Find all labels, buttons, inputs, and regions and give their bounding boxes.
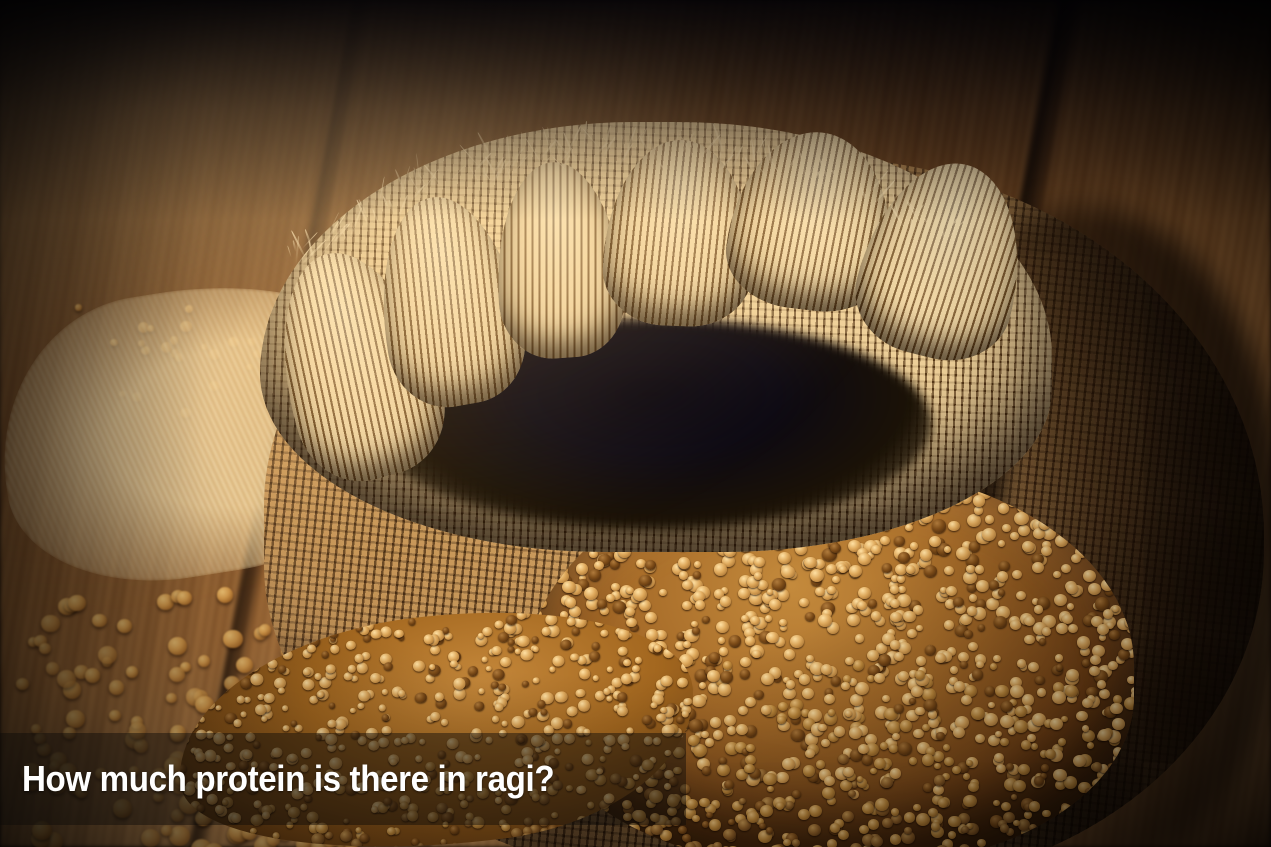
grain-seed: [878, 654, 891, 666]
grain-seed: [539, 573, 546, 579]
grain-seed: [578, 668, 591, 680]
grain-seed: [1029, 801, 1041, 812]
grain-seed: [1031, 743, 1038, 750]
grain-seed: [1108, 661, 1118, 670]
grain-seed: [943, 744, 950, 751]
grain-seed: [810, 569, 824, 582]
grain-seed: [1039, 638, 1046, 645]
grain-seed: [953, 727, 965, 738]
grain-seed: [654, 606, 666, 618]
grain-seed: [1095, 842, 1107, 847]
grain-seed: [767, 786, 774, 792]
sack-rim: [260, 122, 1052, 552]
grain-seed: [889, 744, 898, 753]
grain-seed: [815, 587, 825, 596]
grain-seed: [724, 715, 736, 726]
grain-seed: [164, 648, 171, 656]
grain-seed: [778, 552, 791, 565]
grain-seed: [631, 664, 640, 673]
grain-seed: [682, 580, 693, 590]
grain-seed: [532, 646, 539, 653]
grain-seed: [327, 719, 336, 728]
grain-seed: [1112, 505, 1126, 518]
grain-seed: [494, 620, 504, 629]
grain-seed: [381, 688, 388, 695]
grain-seed: [799, 598, 809, 607]
grain-seed: [1067, 466, 1077, 472]
grain-seed: [648, 592, 656, 599]
grain-seed: [511, 715, 525, 728]
grain-seed: [855, 682, 869, 695]
grain-seed: [575, 688, 585, 698]
grain-seed: [363, 635, 372, 643]
grain-seed: [736, 724, 748, 735]
grain-seed: [1056, 466, 1064, 472]
grain-seed: [805, 612, 815, 621]
grain-seed: [894, 652, 904, 661]
grain-seed: [1101, 579, 1114, 591]
loose-grain: [68, 595, 86, 612]
grain-seed: [478, 687, 485, 694]
grain-seed: [847, 614, 860, 626]
grain-seed: [802, 688, 814, 699]
grain-seed: [783, 839, 791, 846]
grain-seed: [996, 764, 1007, 774]
grain-seed: [798, 809, 810, 820]
grain-seed: [898, 742, 912, 755]
grain-seed: [954, 681, 965, 692]
grain-seed: [978, 624, 985, 631]
grain-seed: [849, 727, 862, 739]
grain-seed: [1000, 824, 1009, 833]
grain-seed: [1111, 820, 1122, 831]
grain-seed: [934, 763, 941, 770]
grain-seed: [839, 566, 847, 573]
grain-seed: [178, 706, 189, 717]
grain-seed: [760, 805, 773, 817]
grain-seed: [897, 575, 905, 583]
jute-fiber: [990, 239, 992, 255]
grain-seed: [904, 827, 912, 834]
grain-seed: [1092, 807, 1105, 819]
grain-seed: [692, 815, 700, 822]
grain-seed: [990, 663, 997, 670]
grain-seed: [1097, 547, 1111, 560]
grain-seed: [890, 834, 902, 845]
grain-seed: [713, 842, 722, 847]
grain-seed: [415, 692, 427, 704]
grain-seed: [1035, 676, 1044, 685]
grain-seed: [302, 679, 315, 691]
grain-seed: [1133, 765, 1134, 772]
grain-seed: [371, 629, 382, 640]
grain-seed: [617, 628, 631, 641]
grain-seed: [784, 649, 795, 659]
grain-seed: [617, 646, 628, 656]
grain-seed: [520, 649, 534, 662]
grain-seed: [922, 724, 931, 732]
grain-seed: [960, 614, 972, 625]
grain-seed: [963, 571, 977, 584]
grain-seed: [871, 836, 883, 847]
grain-seed: [714, 563, 728, 576]
grain-seed: [911, 686, 923, 697]
grain-seed: [1047, 821, 1055, 828]
grain-seed: [903, 611, 916, 623]
grain-seed: [871, 611, 881, 621]
grain-seed: [745, 697, 756, 707]
grain-seed: [236, 695, 246, 704]
grain-seed: [855, 634, 865, 643]
grain-seed: [429, 645, 441, 656]
grain-seed: [968, 642, 979, 652]
grain-seed: [329, 644, 339, 654]
grain-seed: [824, 776, 835, 786]
grain-seed: [858, 553, 871, 565]
grain-seed: [1056, 623, 1068, 634]
grain-seed: [913, 804, 920, 811]
grain-seed: [841, 682, 850, 690]
grain-seed: [928, 808, 938, 817]
loose-grain: [141, 829, 161, 847]
grain-seed: [1121, 638, 1134, 650]
grain-seed: [1042, 627, 1051, 636]
grain-seed: [516, 635, 529, 648]
grain-seed: [636, 840, 646, 847]
grain-seed: [232, 829, 240, 836]
grain-seed: [693, 571, 701, 578]
grain-seed: [1115, 588, 1123, 595]
grain-seed: [778, 702, 788, 711]
grain-seed: [230, 639, 237, 646]
grain-seed: [944, 757, 954, 766]
grain-seed: [977, 839, 986, 847]
grain-seed: [882, 695, 890, 702]
grain-seed: [508, 646, 515, 653]
grain-seed: [746, 744, 755, 752]
grain-seed: [683, 697, 692, 706]
grain-seed: [740, 657, 751, 667]
grain-seed: [241, 837, 249, 845]
grain-seed: [916, 625, 923, 632]
grain-seed: [1092, 762, 1102, 771]
grain-seed: [592, 675, 599, 682]
grain-seed: [663, 648, 675, 659]
grain-seed: [516, 610, 527, 620]
loose-grain: [85, 668, 101, 683]
grain-seed: [935, 653, 946, 663]
grain-seed: [754, 557, 765, 567]
grain-seed: [530, 841, 541, 847]
grain-seed: [717, 764, 731, 777]
grain-seed: [560, 638, 572, 649]
grain-seed: [1068, 624, 1078, 633]
grain-seed: [383, 661, 393, 671]
grain-seed: [916, 813, 930, 826]
grain-seed: [752, 650, 761, 658]
grain-seed: [898, 552, 910, 563]
grain-seed: [1041, 764, 1050, 772]
jute-fiber: [287, 245, 292, 258]
grain-seed: [1010, 685, 1024, 698]
grain-seed: [467, 665, 479, 676]
grain-seed: [1028, 662, 1039, 672]
grain-seed: [765, 615, 773, 622]
grain-seed: [913, 729, 923, 739]
grain-seed: [713, 730, 724, 740]
grain-seed: [215, 705, 222, 712]
grain-seed: [629, 598, 642, 611]
grain-seed: [761, 673, 774, 685]
grain-seed: [985, 686, 995, 696]
grain-seed: [1024, 635, 1035, 645]
grain-seed: [763, 773, 776, 785]
grain-seed: [822, 787, 835, 799]
grain-seed: [754, 572, 762, 580]
grain-seed: [1034, 605, 1043, 614]
grain-seed: [976, 661, 984, 669]
grain-seed: [501, 721, 508, 728]
grain-seed: [1014, 720, 1028, 733]
grain-seed: [936, 732, 945, 741]
grain-seed: [946, 586, 957, 596]
grain-seed: [1029, 824, 1037, 831]
grain-seed: [824, 694, 835, 705]
grain-seed: [1076, 711, 1087, 721]
grain-seed: [966, 565, 975, 573]
grain-seed: [790, 635, 804, 648]
grain-seed: [492, 668, 505, 681]
grain-seed: [328, 702, 336, 709]
grain-seed: [358, 690, 371, 702]
grain-seed: [1130, 741, 1134, 750]
grain-seed: [1061, 564, 1071, 574]
grain-seed: [1024, 616, 1035, 626]
grain-seed: [821, 739, 830, 747]
grain-seed: [922, 754, 935, 766]
grain-seed: [1055, 535, 1068, 547]
grain-seed: [816, 760, 825, 769]
grain-seed: [907, 629, 917, 638]
grain-seed: [1081, 479, 1091, 488]
grain-seed: [685, 842, 696, 847]
grain-seed: [1097, 502, 1110, 514]
grain-seed: [595, 618, 604, 627]
grain-seed: [682, 601, 692, 610]
grain-seed: [994, 616, 1007, 628]
grain-seed: [739, 798, 746, 805]
grain-seed: [894, 704, 904, 713]
loose-grain: [109, 710, 121, 722]
grain-seed: [1096, 790, 1104, 797]
grain-seed: [900, 720, 912, 732]
grain-seed: [738, 706, 749, 716]
grain-seed: [909, 757, 917, 765]
grain-seed: [808, 824, 821, 836]
grain-seed: [806, 655, 814, 662]
grain-seed: [1127, 481, 1134, 493]
grain-seed: [278, 687, 286, 694]
grain-seed: [953, 597, 964, 607]
grain-seed: [853, 660, 865, 671]
grain-seed: [1013, 820, 1020, 827]
grain-seed: [606, 666, 613, 673]
grain-seed: [521, 680, 529, 687]
grain-seed: [603, 688, 611, 696]
grain-seed: [250, 673, 264, 686]
grain-seed: [356, 662, 368, 674]
grain-seed: [380, 626, 393, 638]
grain-seed: [1107, 538, 1117, 547]
grain-seed: [1082, 659, 1090, 666]
grain-seed: [1015, 706, 1026, 717]
grain-seed: [705, 738, 714, 747]
grain-seed: [890, 599, 900, 609]
grain-seed: [766, 827, 773, 834]
grain-seed: [1124, 593, 1134, 605]
grain-seed: [821, 664, 832, 675]
image-stage: How much protein is there in ragi?: [0, 0, 1271, 847]
grain-seed: [716, 621, 729, 633]
grain-seed: [975, 565, 984, 574]
grain-seed: [859, 825, 869, 834]
grain-seed: [845, 710, 853, 717]
grain-seed: [759, 823, 766, 830]
grain-seed: [924, 565, 937, 577]
grain-seed: [785, 801, 794, 809]
grain-seed: [1091, 829, 1105, 842]
grain-seed: [727, 726, 736, 735]
grain-seed: [1109, 630, 1120, 640]
grain-seed: [508, 638, 515, 645]
grain-seed: [345, 640, 357, 651]
grain-seed: [267, 659, 278, 669]
grain-seed: [989, 580, 999, 590]
grain-seed: [1010, 620, 1021, 630]
grain-seed: [1011, 794, 1018, 800]
grain-seed: [783, 688, 795, 700]
grain-seed: [938, 798, 949, 808]
grain-seed: [720, 596, 731, 606]
grain-seed: [1120, 790, 1133, 802]
grain-seed: [1021, 740, 1032, 750]
loose-grain: [126, 666, 139, 678]
grain-seed: [589, 569, 602, 581]
grain-seed: [1016, 591, 1026, 600]
grain-seed: [1107, 763, 1117, 773]
grain-seed: [1097, 537, 1107, 547]
grain-seed: [968, 782, 979, 792]
grain-seed: [660, 674, 673, 686]
grain-seed: [1064, 840, 1078, 847]
grain-seed: [694, 561, 701, 568]
grain-seed: [1125, 617, 1134, 628]
loose-grain: [161, 825, 173, 836]
grain-seed: [617, 705, 629, 716]
grain-seed: [988, 702, 995, 709]
loose-grain: [75, 304, 82, 310]
grain-seed: [944, 566, 954, 575]
grain-seed: [629, 614, 638, 622]
grain-seed: [960, 661, 968, 668]
grain-seed: [870, 768, 877, 774]
grain-seed: [1052, 691, 1066, 704]
grain-seed: [1090, 655, 1101, 666]
grain-seed: [1037, 688, 1046, 696]
grain-seed: [1065, 685, 1078, 697]
grain-seed: [718, 637, 725, 644]
grain-seed: [227, 667, 234, 674]
grain-seed: [868, 599, 877, 608]
grain-seed: [966, 760, 973, 767]
grain-seed: [792, 790, 801, 798]
grain-seed: [834, 726, 845, 737]
loose-grain: [109, 680, 125, 695]
grain-seed: [1127, 676, 1134, 684]
loose-grain: [39, 643, 51, 655]
grain-seed: [838, 830, 849, 840]
grain-seed: [904, 812, 916, 823]
grain-seed: [1110, 703, 1123, 715]
grain-seed: [600, 629, 609, 637]
grain-seed: [972, 669, 984, 680]
grain-seed: [719, 647, 728, 656]
grain-seed: [549, 666, 556, 673]
grain-seed: [1124, 827, 1134, 836]
grain-seed: [898, 586, 906, 593]
grain-seed: [233, 719, 242, 727]
grain-seed: [591, 642, 600, 650]
grain-seed: [967, 606, 978, 616]
loose-grain: [16, 678, 29, 690]
grain-seed: [577, 699, 591, 712]
grain-seed: [1058, 738, 1067, 746]
grain-seed: [1123, 469, 1133, 478]
loose-grain: [92, 614, 107, 628]
grain-seed: [527, 556, 539, 567]
grain-seed: [818, 724, 826, 732]
grain-seed: [606, 695, 613, 702]
grain-seed: [1001, 802, 1011, 811]
grain-seed: [264, 646, 273, 655]
grain-seed: [440, 839, 447, 845]
grain-seed: [745, 636, 755, 645]
grain-seed: [890, 585, 899, 593]
grain-seed: [676, 677, 688, 689]
grain-seed: [868, 819, 880, 830]
grain-seed: [948, 831, 956, 839]
grain-seed: [995, 731, 1002, 737]
grain-seed: [1013, 780, 1026, 792]
grain-seed: [1124, 697, 1134, 710]
grain-seed: [702, 616, 710, 623]
grain-seed: [944, 620, 955, 630]
grain-seed: [827, 839, 837, 847]
grain-seed: [240, 711, 247, 718]
grain-seed: [1077, 636, 1090, 649]
grain-seed: [723, 829, 736, 841]
grain-seed: [1056, 664, 1064, 671]
grain-seed: [1017, 659, 1027, 668]
grain-seed: [710, 717, 721, 728]
grain-seed: [556, 838, 567, 847]
grain-seed: [615, 831, 629, 844]
grain-seed: [890, 640, 900, 650]
grain-seed: [283, 636, 293, 646]
grain-seed: [582, 834, 596, 847]
grain-seed: [882, 818, 893, 828]
grain-seed: [1069, 512, 1076, 519]
